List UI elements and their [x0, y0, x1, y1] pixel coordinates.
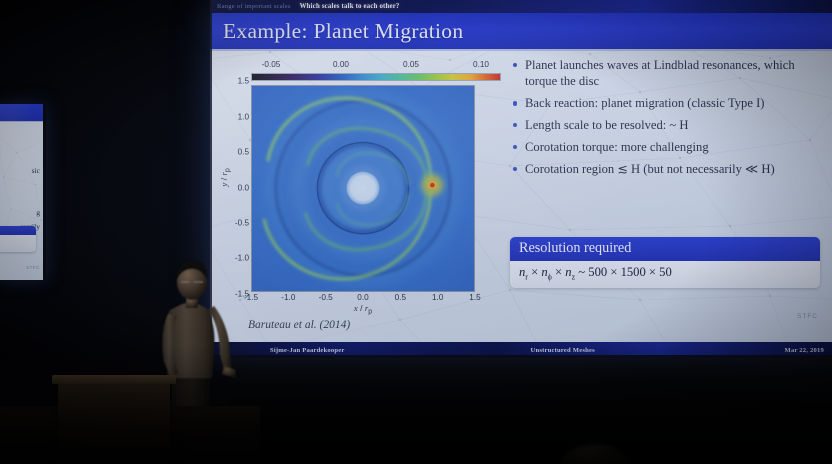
colorbar-tick-3: 0.10: [473, 60, 489, 69]
list-item: Length scale to be resolved: ~ H: [510, 117, 822, 133]
podium: [58, 380, 170, 464]
y-tick--1.0: -1.0: [235, 254, 249, 263]
x-axis-label: x / rp: [354, 303, 372, 316]
section-label-previous: Range of important scales: [217, 3, 291, 10]
resolution-block-heading: Resolution required: [510, 237, 820, 261]
y-tick--0.5: -0.5: [235, 219, 249, 228]
footer-date: Mar 22, 2019: [785, 347, 824, 354]
footer-author: Sijme-Jan Paardekooper: [270, 347, 345, 354]
bullet-list-container: Planet launches waves at Lindblad resona…: [510, 57, 822, 183]
presentation-slide: Range of important scales Which scales t…: [210, 0, 832, 358]
list-item: Corotation region ≲ H (but not necessari…: [510, 161, 822, 177]
page-title: Example: Planet Migration: [210, 19, 463, 44]
figure-citation: Baruteau et al. (2014): [248, 319, 350, 331]
x-tick-0.5: 0.5: [395, 293, 406, 302]
x-tick-1.5: 1.5: [469, 293, 480, 302]
secondary-monitor: sic g ssarily STFC: [0, 104, 46, 280]
colorbar-tick-labels: -0.05 0.00 0.05 0.10: [251, 60, 501, 73]
colorbar-gradient: [251, 73, 501, 81]
figure-planet-disc: -0.05 0.00 0.05 0.10 1.5 1.0 0.5 0.0 -: [224, 51, 504, 333]
y-tick-0.5: 0.5: [238, 147, 249, 156]
formula-sub-r: r: [525, 273, 528, 282]
disc-field-render: [252, 86, 474, 291]
footer-talk-title: Unstructured Meshes: [531, 347, 595, 354]
formula-sub-phi: ϕ: [548, 273, 552, 282]
slide-body: -0.05 0.00 0.05 0.10 1.5 1.0 0.5 0.0 -: [210, 51, 832, 342]
x-tick--1.0: -1.0: [281, 293, 295, 302]
colorbar-tick-2: 0.05: [403, 60, 419, 69]
colorbar-tick-1: 0.00: [333, 60, 349, 69]
secondary-monitor-slide: sic g ssarily STFC: [0, 104, 43, 280]
secondary-slide-title-bar: [0, 104, 43, 122]
y-tick-0.0: 0.0: [238, 183, 249, 192]
y-tick-1.0: 1.0: [238, 112, 249, 121]
resolution-block-formula: nr × nϕ × nz ~ 500 × 1500 × 50: [510, 261, 820, 288]
formula-rhs: 500 × 1500 × 50: [588, 265, 671, 279]
stage-edge: [230, 358, 832, 464]
y-axis-label: y / rp: [219, 168, 232, 186]
resolution-required-block: Resolution required nr × nϕ × nz ~ 500 ×…: [510, 237, 820, 288]
x-tick--1.5: -1.5: [244, 293, 258, 302]
section-progress-header: Range of important scales Which scales t…: [210, 0, 832, 13]
secondary-brandmark: STFC: [26, 265, 40, 270]
colorbar: -0.05 0.00 0.05 0.10: [251, 60, 501, 81]
list-item: Corotation torque: more challenging: [510, 139, 822, 155]
y-tick-1.5: 1.5: [238, 77, 249, 86]
secondary-block-body: [0, 235, 36, 252]
colorbar-tick-0: -0.05: [262, 60, 281, 69]
lecture-hall-scene: sic g ssarily STFC: [0, 0, 832, 464]
secondary-block-head: [0, 226, 36, 235]
secondary-text-fragment-1: sic: [32, 166, 40, 175]
formula-sub-z: z: [572, 273, 576, 282]
slide-title-bar: Example: Planet Migration: [210, 13, 832, 51]
list-item: Planet launches waves at Lindblad resona…: [510, 57, 822, 90]
section-label-current: Which scales talk to each other?: [300, 3, 400, 10]
projection-screen: Range of important scales Which scales t…: [210, 0, 832, 358]
podium-top: [52, 375, 176, 384]
secondary-resolution-block: [0, 226, 36, 252]
x-tick-0.0: 0.0: [357, 293, 368, 302]
stfc-brandmark: STFC: [797, 313, 818, 320]
list-item: Back reaction: planet migration (classic…: [510, 95, 822, 111]
bullet-list: Planet launches waves at Lindblad resona…: [510, 57, 822, 177]
disc-surface-density-plot: [251, 85, 475, 292]
x-tick--0.5: -0.5: [319, 293, 333, 302]
x-tick-1.0: 1.0: [432, 293, 443, 302]
secondary-text-fragment-2: g: [36, 208, 40, 217]
